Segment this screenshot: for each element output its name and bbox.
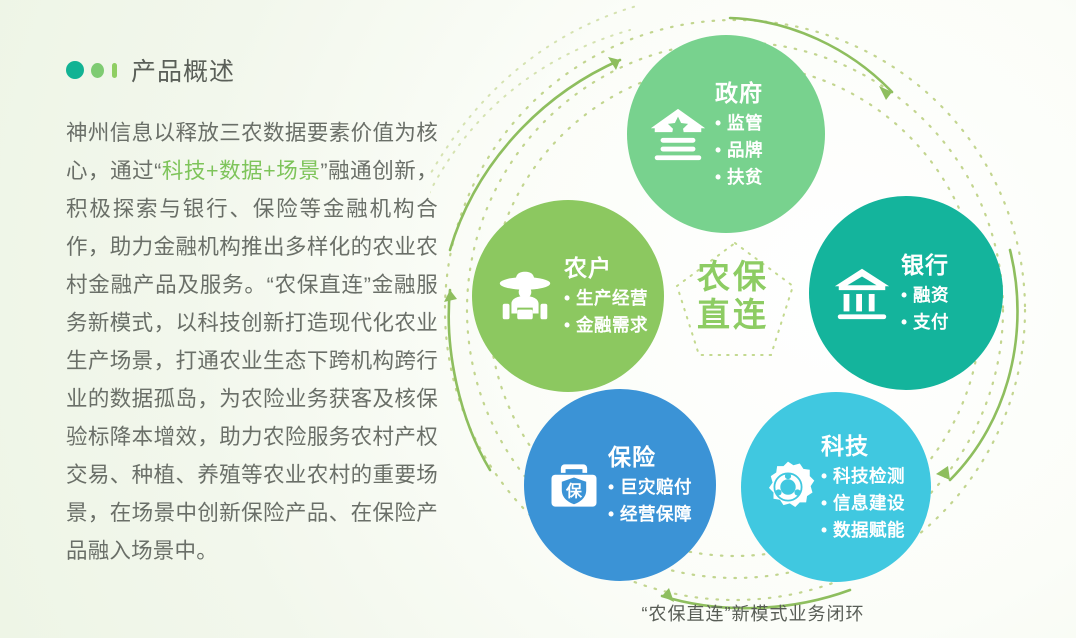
business-loop-diagram: 农保 直连 政府 监管 品牌 扶贫 <box>430 0 1076 638</box>
bank-columns-icon <box>831 262 893 324</box>
marker-circle-green-icon <box>91 63 104 78</box>
overview-text-highlight: 科技+数据+场景 <box>162 159 321 183</box>
overview-panel: 产品概述 神州信息以释放三农数据要素价值为核心，通过“科技+数据+场景”融通创新… <box>66 52 438 570</box>
node-farmer[interactable]: 农户 生产经营 金融需求 <box>472 200 664 392</box>
center-label-line2: 直连 <box>663 296 803 334</box>
government-building-icon <box>647 103 709 165</box>
node-government-title: 政府 <box>715 78 763 108</box>
slide-canvas: 产品概述 神州信息以释放三农数据要素价值为核心，通过“科技+数据+场景”融通创新… <box>0 0 1076 638</box>
diagram-caption: “农保直连”新模式业务闭环 <box>430 600 1076 626</box>
node-farmer-item-1: 金融需求 <box>564 312 648 339</box>
insurance-briefcase-shield-icon: 保 <box>544 455 604 515</box>
node-insurance[interactable]: 保 保险 巨灾赔付 经营保障 <box>524 389 716 581</box>
node-bank-title: 银行 <box>901 250 949 280</box>
node-government[interactable]: 政府 监管 品牌 扶贫 <box>627 35 825 233</box>
node-government-item-2: 扶贫 <box>715 164 763 191</box>
node-bank-item-0: 融资 <box>901 282 949 309</box>
insurance-icon-glyph: 保 <box>565 481 583 500</box>
diagram-center-label: 农保 直连 <box>663 258 803 334</box>
node-government-item-0: 监管 <box>715 110 763 137</box>
page-title: 产品概述 <box>131 52 235 88</box>
node-bank-item-1: 支付 <box>901 309 949 336</box>
section-header: 产品概述 <box>66 52 438 88</box>
node-technology-item-0: 科技检测 <box>821 463 905 490</box>
center-label-line1: 农保 <box>663 258 803 296</box>
farmer-hat-icon <box>494 265 556 327</box>
node-technology[interactable]: 科技 科技检测 信息建设 数据赋能 <box>741 392 931 582</box>
overview-text-part2: ”融通创新，积极探索与银行、保险等金融机构合作，助力金融机构推出多样化的农业农村… <box>66 159 438 563</box>
node-technology-title: 科技 <box>821 431 905 461</box>
node-farmer-title: 农户 <box>564 253 648 283</box>
node-insurance-item-1: 经营保障 <box>608 501 692 528</box>
node-technology-item-2: 数据赋能 <box>821 517 905 544</box>
node-technology-item-1: 信息建设 <box>821 490 905 517</box>
node-insurance-title: 保险 <box>608 442 692 472</box>
marker-circle-teal-icon <box>66 61 84 79</box>
node-bank[interactable]: 银行 融资 支付 <box>809 196 1003 390</box>
node-farmer-item-0: 生产经营 <box>564 285 648 312</box>
gear-icon <box>759 458 817 516</box>
marker-bar-icon <box>112 63 117 78</box>
node-government-item-1: 品牌 <box>715 137 763 164</box>
overview-body-text: 神州信息以释放三农数据要素价值为核心，通过“科技+数据+场景”融通创新，积极探索… <box>66 114 438 570</box>
node-insurance-item-0: 巨灾赔付 <box>608 474 692 501</box>
